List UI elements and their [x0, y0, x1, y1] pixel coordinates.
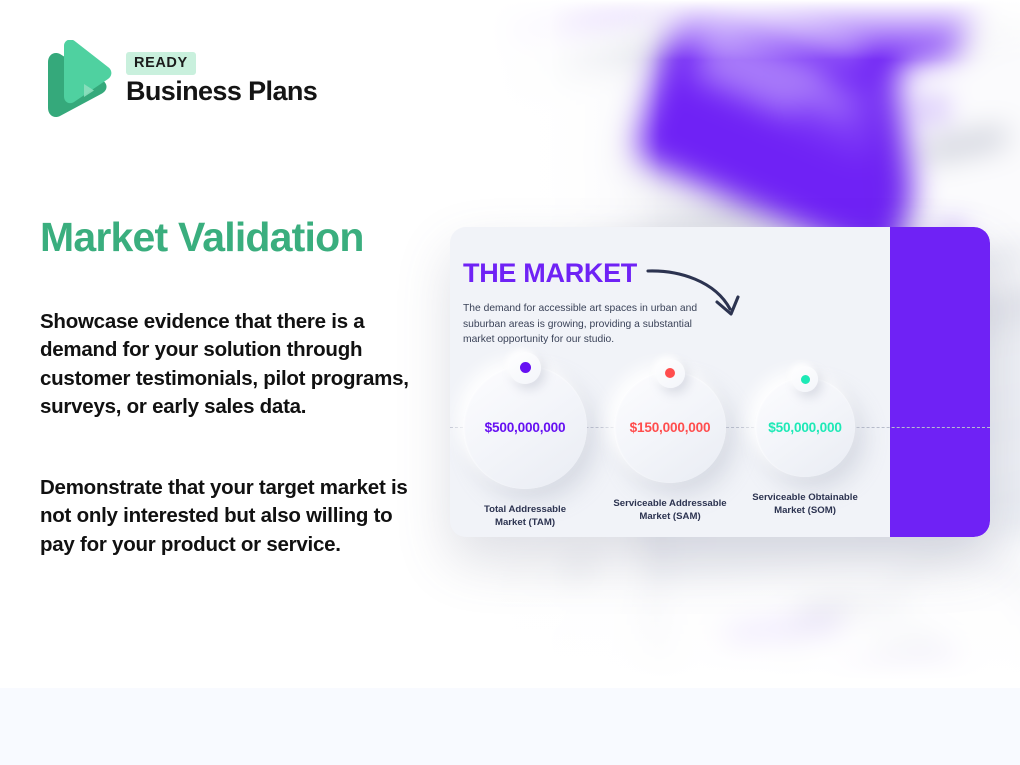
market-size-bubble: $500,000,000 — [463, 365, 587, 489]
bottom-strip — [0, 688, 1020, 765]
market-size-item[interactable]: $50,000,000Serviceable ObtainableMarket … — [755, 377, 855, 477]
page-title: Market Validation — [40, 215, 364, 260]
market-size-item[interactable]: $150,000,000Serviceable AddressableMarke… — [614, 371, 726, 483]
market-size-amount: $150,000,000 — [630, 420, 711, 435]
ready-badge: READY — [126, 52, 196, 75]
market-size-amount: $50,000,000 — [768, 420, 841, 435]
market-size-bubble: $50,000,000 — [755, 377, 855, 477]
market-size-knob — [656, 359, 685, 388]
market-slide-card: THE MARKET The demand for accessible art… — [450, 227, 990, 537]
market-size-amount: $500,000,000 — [485, 420, 566, 435]
body-paragraph-2: Demonstrate that your target market is n… — [40, 474, 420, 559]
market-size-dot — [801, 375, 810, 384]
market-size-knob — [509, 352, 541, 384]
market-size-label: Serviceable ObtainableMarket (SOM) — [730, 491, 880, 517]
body-paragraph-1: Showcase evidence that there is a demand… — [40, 308, 420, 421]
slide-canvas: READY Business Plans Market Validation S… — [0, 0, 1020, 765]
market-size-dot — [665, 368, 675, 378]
market-size-dot — [520, 362, 531, 373]
market-size-bubble: $150,000,000 — [614, 371, 726, 483]
brand-logo: READY Business Plans — [42, 40, 317, 118]
market-size-label: Total AddressableMarket (TAM) — [450, 503, 600, 529]
play-triangle-logo-icon — [42, 40, 112, 118]
market-size-chart: $500,000,000Total AddressableMarket (TAM… — [450, 227, 990, 537]
market-size-label: Serviceable AddressableMarket (SAM) — [595, 497, 745, 523]
brand-logotype: READY Business Plans — [126, 52, 317, 107]
brand-name: Business Plans — [126, 77, 317, 107]
market-size-knob — [792, 366, 818, 392]
market-size-item[interactable]: $500,000,000Total AddressableMarket (TAM… — [463, 365, 587, 489]
